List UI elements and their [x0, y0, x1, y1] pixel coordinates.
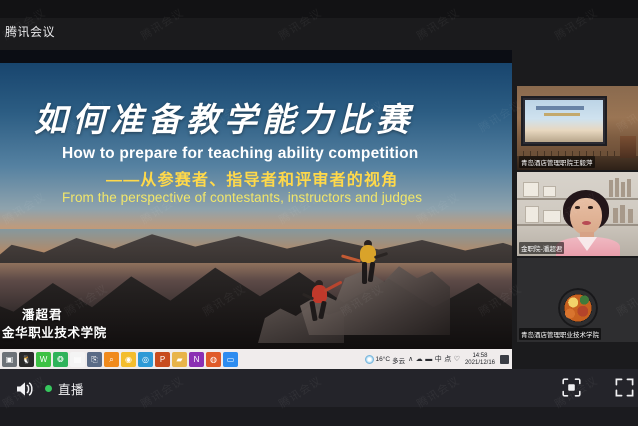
onenote-icon[interactable]: N	[189, 352, 204, 367]
taskbar-app-icons[interactable]: ▣🐧W❂▤⎘⌕◉◎P▰N◍▭	[0, 352, 238, 367]
participant-tile-3[interactable]: 青岛酒店管理职业技术学院	[517, 258, 638, 342]
focus-view-icon[interactable]	[562, 378, 581, 397]
live-status-label: 直播	[58, 379, 84, 398]
shared-screen-region[interactable]: 如何准备教学能力比赛 How to prepare for teaching a…	[0, 50, 512, 370]
chrome-icon[interactable]: ◉	[121, 352, 136, 367]
tray-icon-6[interactable]: ♡	[454, 356, 460, 363]
participant-video-strip: 青岛酒店管理职院王毅萍	[517, 86, 638, 344]
live-status[interactable]: 直播	[45, 379, 84, 398]
slide-title-english: How to prepare for teaching ability comp…	[62, 145, 418, 163]
participant-tile-2[interactable]: 金职院-潘超君	[517, 172, 638, 256]
remote-desktop-icon[interactable]: ⎘	[87, 352, 102, 367]
tray-icon-3[interactable]: ▬	[425, 356, 432, 363]
tray-icon-5[interactable]: 点	[444, 356, 451, 363]
weather-widget[interactable]: 16°C 多云	[365, 355, 406, 365]
meeting-title: 腾讯会议	[5, 23, 55, 40]
weather-icon	[365, 355, 374, 364]
weather-description: 多云	[392, 355, 405, 365]
notes-icon[interactable]: ❂	[53, 352, 68, 367]
windows-taskbar[interactable]: ▣🐧W❂▤⎘⌕◉◎P▰N◍▭ 16°C 多云 ∧☁▬中点♡ 14:58 2021…	[0, 349, 512, 370]
notification-center-icon[interactable]	[500, 355, 509, 364]
taskbar-system-tray[interactable]: 16°C 多云 ∧☁▬中点♡ 14:58 2021/12/16	[365, 353, 512, 367]
taskbar-clock[interactable]: 14:58 2021/12/16	[463, 353, 497, 367]
projector-screen	[521, 96, 607, 146]
tray-icon-4[interactable]: 中	[435, 356, 442, 363]
participant-name-label: 金职院-潘超君	[519, 242, 564, 254]
participant-name-label: 青岛酒店管理职业技术学院	[519, 328, 601, 340]
participant-tile-1[interactable]: 青岛酒店管理职院王毅萍	[517, 86, 638, 170]
window-bottom-edge	[0, 407, 638, 426]
tencent-meeting-window: 腾讯会议 如何准备	[0, 0, 638, 426]
folder-icon[interactable]: ▰	[172, 352, 187, 367]
search-dog-icon[interactable]: ⌕	[104, 352, 119, 367]
window-titlebar	[0, 0, 638, 18]
slide-title-chinese: 如何准备教学能力比赛	[34, 103, 454, 136]
meeting-control-bar: 直播	[0, 369, 638, 407]
powerpoint-icon[interactable]: P	[155, 352, 170, 367]
tray-icon-2[interactable]: ☁	[416, 356, 423, 363]
participant-webcam-person	[555, 190, 621, 256]
presentation-slide: 如何准备教学能力比赛 How to prepare for teaching a…	[0, 63, 512, 349]
speaker-icon[interactable]	[15, 380, 35, 398]
clock-date: 2021/12/16	[465, 360, 495, 367]
edge-icon[interactable]: ◎	[138, 352, 153, 367]
climber-climbing	[306, 281, 340, 321]
fullscreen-expand-icon[interactable]	[615, 378, 634, 397]
zoom-icon[interactable]: ▭	[223, 352, 238, 367]
qq-penguin-icon[interactable]: 🐧	[19, 352, 34, 367]
avatar	[558, 288, 598, 328]
tray-icons[interactable]: ∧☁▬中点♡	[408, 356, 460, 363]
document-icon[interactable]: ▤	[70, 352, 85, 367]
wechat-icon[interactable]: W	[36, 352, 51, 367]
task-view-icon[interactable]: ▣	[2, 352, 17, 367]
slide-subtitle-english: From the perspective of contestants, ins…	[62, 190, 422, 205]
clock-time: 14:58	[465, 353, 495, 360]
live-indicator-dot	[45, 385, 52, 392]
weather-temperature: 16°C	[376, 356, 391, 363]
slide-presenter-name: 潘超君	[22, 304, 63, 323]
participant-name-label: 青岛酒店管理职院王毅萍	[519, 156, 595, 168]
climber-helping	[352, 245, 386, 287]
slide-organization: 金华职业技术学院	[2, 322, 107, 341]
classroom-desk	[620, 136, 636, 158]
tencent-meeting-taskbar-icon[interactable]: ◍	[206, 352, 221, 367]
slide-subtitle-chinese: ——从参赛者、指导者和评审者的视角	[106, 166, 398, 190]
tray-icon-1[interactable]: ∧	[408, 356, 413, 363]
